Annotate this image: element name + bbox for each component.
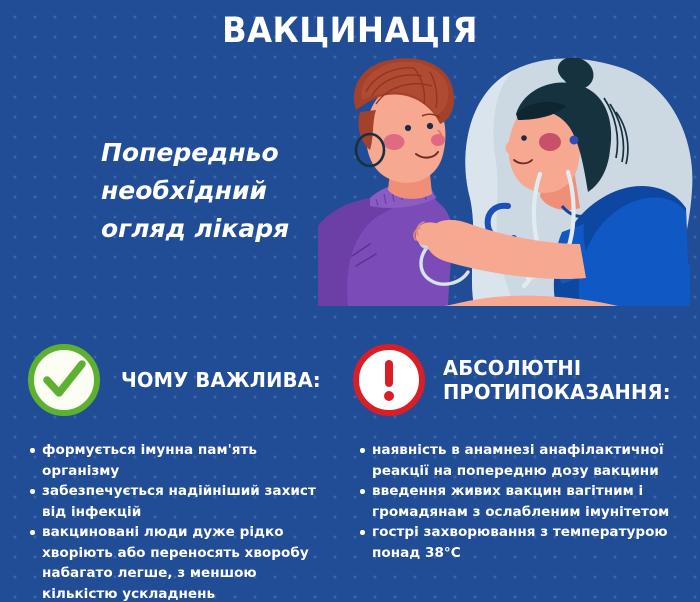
doctor-earpiece	[570, 136, 579, 145]
doctor-eye	[521, 135, 527, 141]
section-heading-label: ЧОМУ ВАЖЛИВА:	[121, 368, 321, 392]
section-heading-label: АБСОЛЮТНІ ПРОТИПОКАЗАННЯ:	[443, 356, 671, 404]
section-header-contraindications: АБСОЛЮТНІ ПРОТИПОКАЗАННЯ:	[353, 344, 683, 416]
section-header-why-important: ЧОМУ ВАЖЛИВА:	[28, 344, 338, 416]
patient-eye-right	[427, 123, 433, 129]
benefits-list: формується імунна пам'ять організму забе…	[30, 440, 335, 602]
list-item: гострі захворювання з температурою понад…	[360, 522, 682, 563]
patient-blush-right	[431, 134, 445, 146]
exclamation-icon	[353, 344, 425, 416]
contraindications-list: наявність в анамнезі анафілактичної реак…	[360, 440, 682, 563]
list-item: введення живих вакцин вагітним і громадя…	[360, 481, 682, 522]
list-item: забезпечується надійніший захист від інф…	[30, 481, 335, 522]
doctor-examining-patient-illustration	[318, 58, 700, 306]
check-icon	[28, 344, 100, 416]
patient-eye-left	[405, 125, 411, 131]
list-item: наявність в анамнезі анафілактичної реак…	[360, 440, 682, 481]
headline-text: Попередньо необхідний огляд лікаря	[101, 134, 331, 248]
list-item: формується імунна пам'ять організму	[30, 440, 335, 481]
patient-blush-left	[384, 134, 405, 150]
page-title: ВАКЦИНАЦІЯ	[28, 14, 672, 49]
vaccination-infographic: ВАКЦИНАЦІЯ Попередньо необхідний огляд л…	[0, 0, 700, 602]
doctor-blush	[539, 133, 561, 151]
list-item: вакциновані люди дуже рідко хворіють або…	[30, 522, 335, 602]
